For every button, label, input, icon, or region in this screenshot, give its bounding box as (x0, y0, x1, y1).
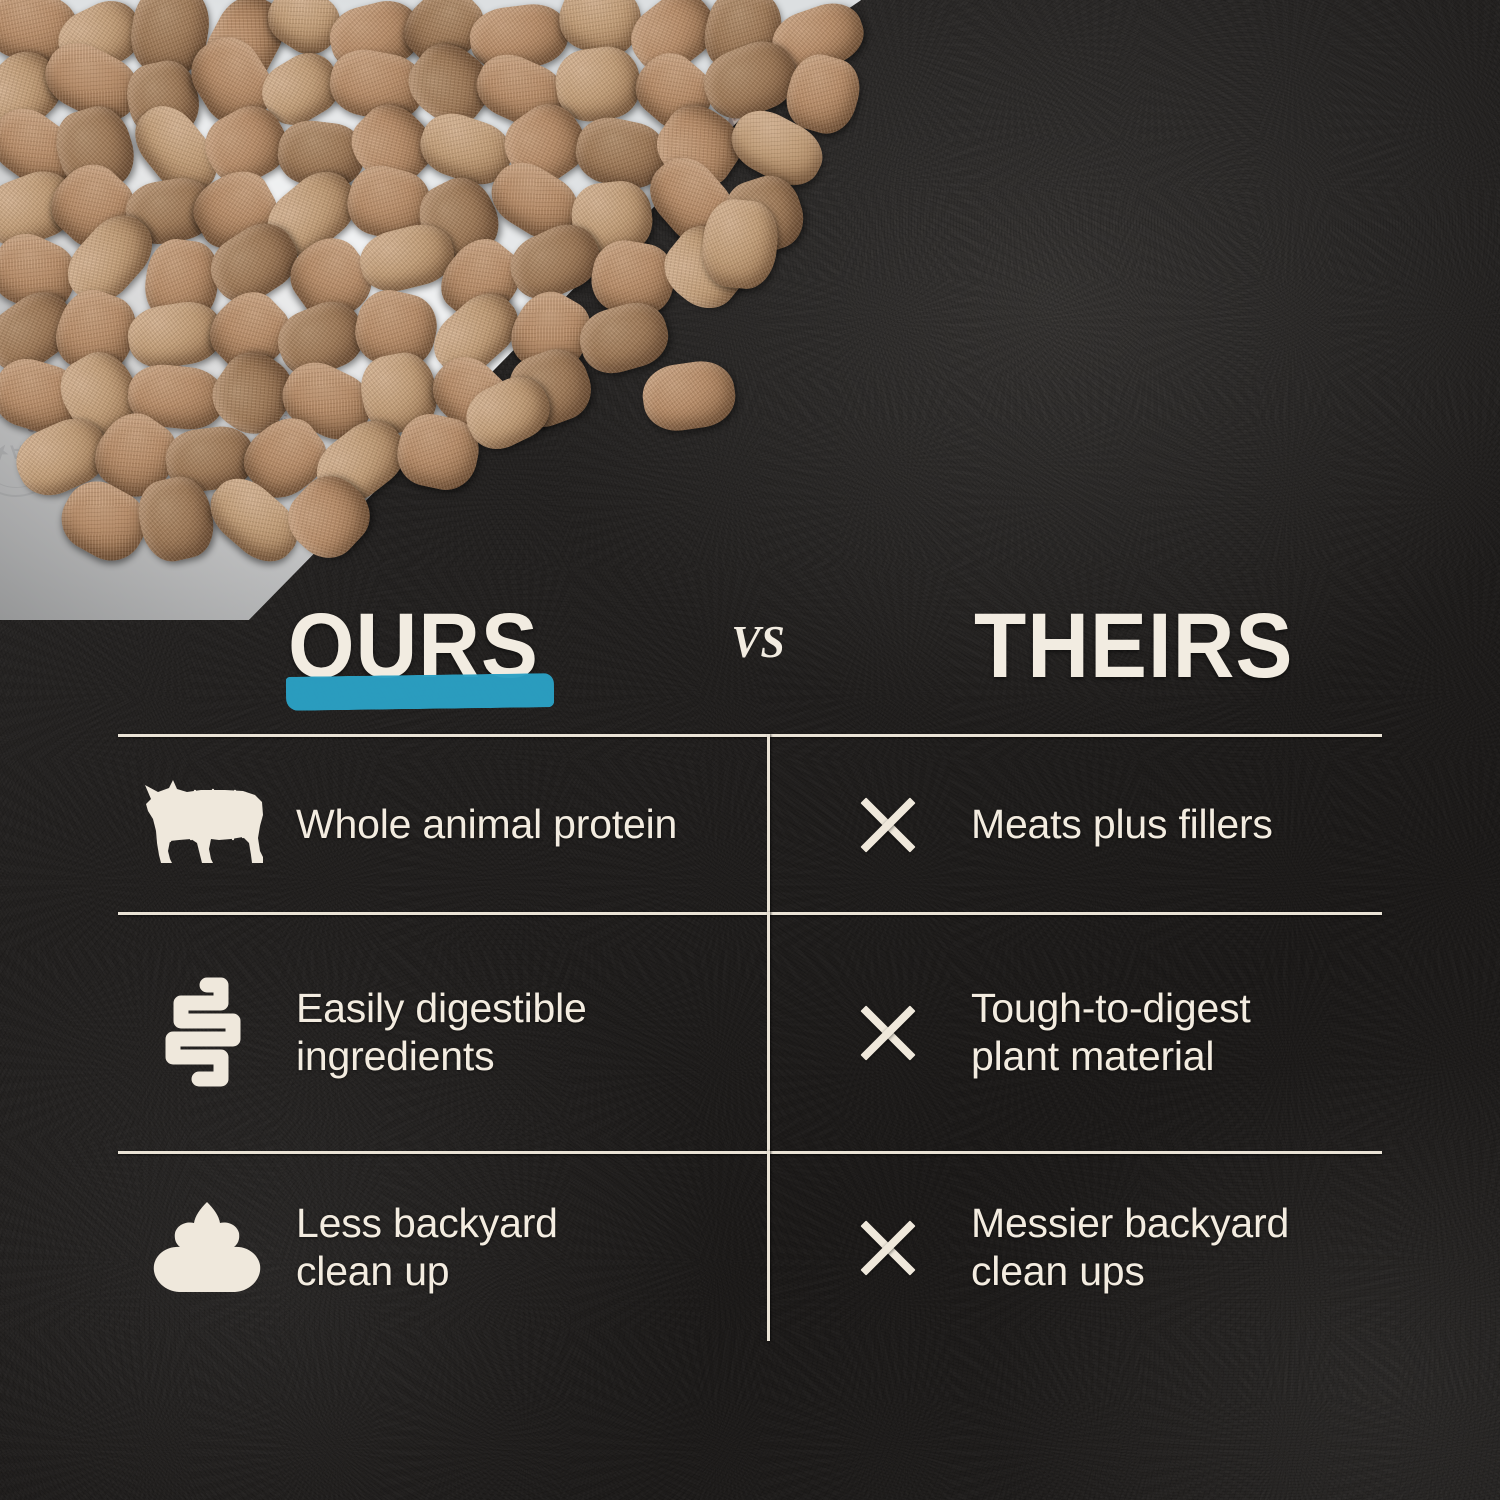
theirs-cell-row2: Tough-to-digest plant material (767, 915, 1382, 1151)
theirs-cell-row1: Meats plus fillers (767, 737, 1382, 912)
theirs-text-row2: Tough-to-digest plant material (971, 985, 1251, 1080)
ours-cell-row1: Whole animal protein (118, 737, 767, 912)
intestine-digestion-icon (118, 977, 296, 1089)
x-mark-icon (859, 1219, 971, 1277)
ours-text-row2-line2: ingredients (296, 1033, 587, 1081)
ours-text-row2-line1: Easily digestible (296, 985, 587, 1033)
theirs-text-row2-line1: Tough-to-digest (971, 985, 1251, 1033)
comparison-header: OURS VS THEIRS (118, 588, 1382, 734)
x-mark-icon (859, 796, 971, 854)
poop-icon (118, 1199, 296, 1297)
product-photo: 🐕 🐄 🐓 🐟 🐕 🦅 🐄 🐕 🐟 🐕 🦅 🐄 🐕 🐟 🐕 ★A★ (0, 0, 880, 620)
theirs-cell-row3: Messier backyard clean ups (767, 1154, 1382, 1341)
vs-label: VS (731, 615, 784, 668)
ours-cell-row3: Less backyard clean up (118, 1154, 767, 1341)
comparison-infographic: 🐕 🐄 🐓 🐟 🐕 🦅 🐄 🐕 🐟 🐕 🦅 🐄 🐕 🐟 🐕 ★A★ (0, 0, 1500, 1500)
ours-text-row3-line1: Less backyard (296, 1200, 558, 1248)
ours-underline-brushstroke (286, 673, 554, 711)
x-mark-icon (859, 1004, 971, 1062)
theirs-text-row2-line2: plant material (971, 1033, 1251, 1081)
comparison-table: OURS VS THEIRS (118, 588, 1382, 1354)
theirs-text-row1: Meats plus fillers (971, 801, 1273, 849)
comparison-grid: Whole animal protein Meats plus fillers (118, 734, 1382, 1354)
ours-text-row1: Whole animal protein (296, 801, 677, 849)
theirs-text-row3-line2: clean ups (971, 1248, 1289, 1296)
ours-text-row2: Easily digestible ingredients (296, 985, 587, 1080)
theirs-title: THEIRS (974, 594, 1293, 699)
ours-text-row3-line2: clean up (296, 1248, 558, 1296)
theirs-text-row3: Messier backyard clean ups (971, 1200, 1289, 1295)
loose-kibble-2 (639, 357, 739, 435)
cow-butcher-cuts-icon (118, 771, 296, 879)
table-row: Less backyard clean up Messier backyard … (118, 1154, 1382, 1341)
theirs-text-row3-line1: Messier backyard (971, 1200, 1289, 1248)
table-row: Whole animal protein Meats plus fillers (118, 737, 1382, 912)
ours-text-row3: Less backyard clean up (296, 1200, 558, 1295)
table-row: Easily digestible ingredients Tough-to-d… (118, 915, 1382, 1151)
ours-cell-row2: Easily digestible ingredients (118, 915, 767, 1151)
